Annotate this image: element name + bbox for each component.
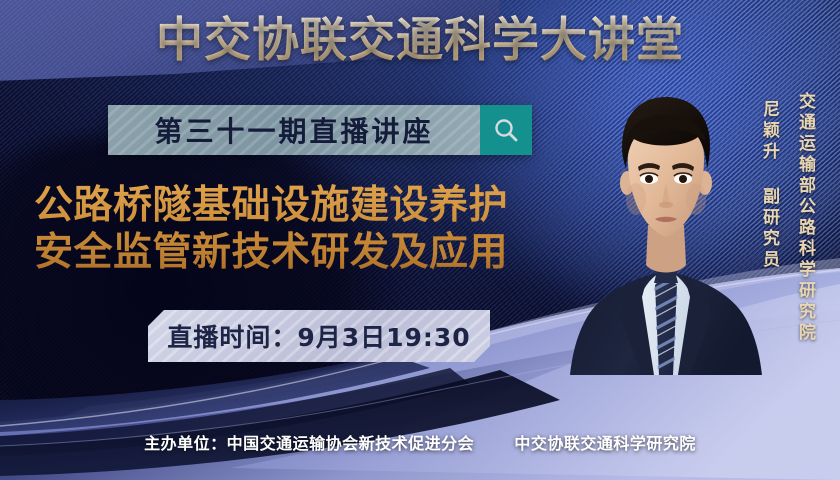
live-stream-poster: 中交协联交通科学大讲堂 中交协联交通科学大讲堂 第三十一期直播讲座 公路桥隧基础…: [0, 0, 840, 480]
speaker-name-title: 尼颖升 副研究员: [757, 100, 782, 271]
episode-banner-body: 第三十一期直播讲座: [108, 105, 480, 155]
lecture-title: 公路桥隧基础设施建设养护 安全监管新技术研发及应用: [34, 182, 594, 276]
header-title: 中交协联交通科学大讲堂: [0, 14, 840, 68]
episode-banner: 第三十一期直播讲座: [108, 105, 532, 155]
lecture-title-line-2: 安全监管新技术研发及应用: [34, 229, 594, 276]
search-button[interactable]: [480, 105, 532, 155]
footer-institute: 中交协联交通科学研究院: [514, 434, 696, 453]
broadcast-time-label: 直播时间：9月3日19:30: [167, 318, 470, 354]
broadcast-time-badge: 直播时间：9月3日19:30: [148, 310, 490, 362]
search-icon: [492, 116, 520, 144]
lecture-title-line-1: 公路桥隧基础设施建设养护: [34, 182, 594, 229]
footer-organizer: 主办单位：中国交通运输协会新技术促进分会: [144, 434, 474, 453]
episode-label: 第三十一期直播讲座: [154, 110, 433, 150]
footer-organizers: 主办单位：中国交通运输协会新技术促进分会 中交协联交通科学研究院: [0, 430, 840, 454]
speaker-organization: 交通运输部公路科学研究院: [793, 92, 818, 344]
speaker-portrait: [570, 75, 762, 365]
